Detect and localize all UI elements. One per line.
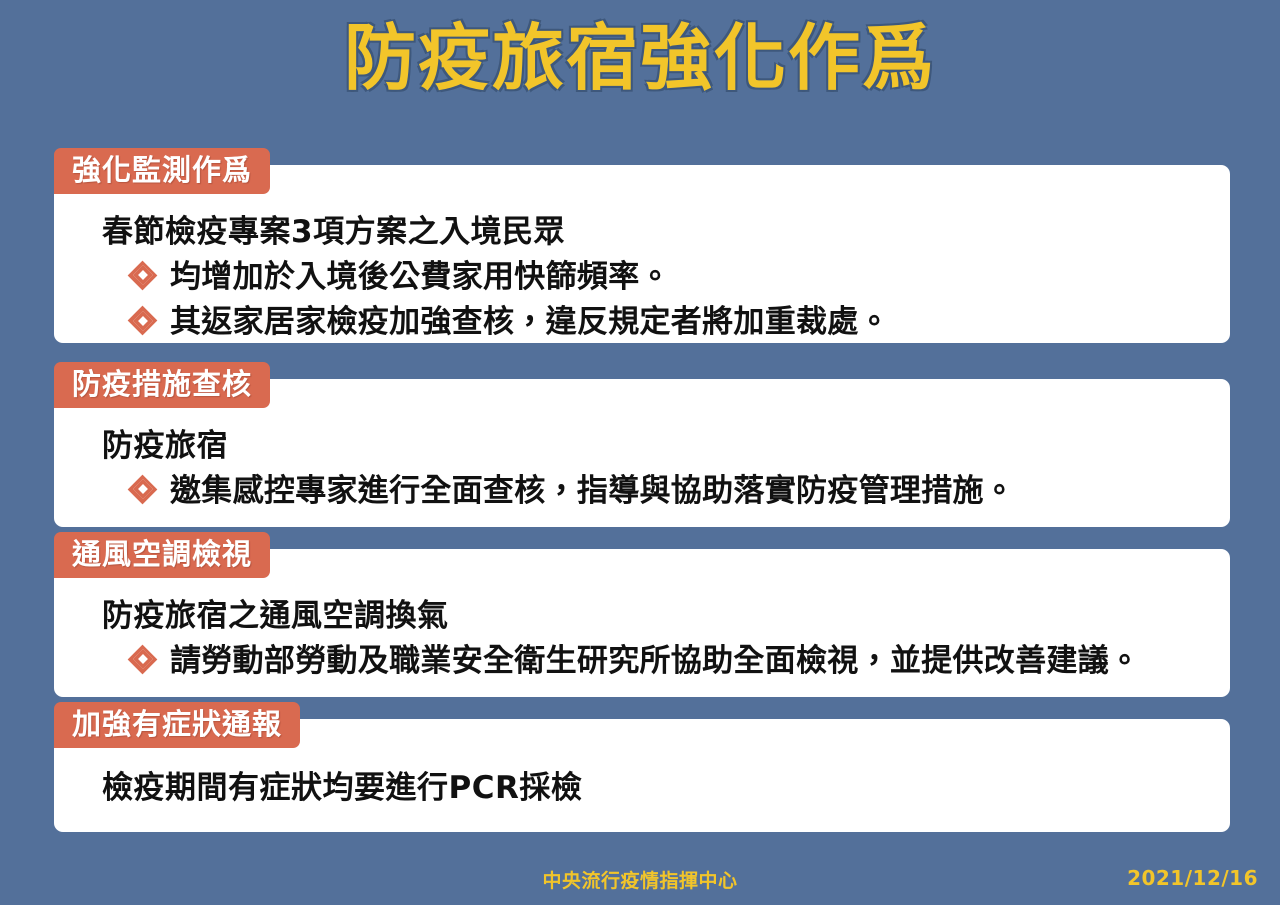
section-badge: 加強有症狀通報 bbox=[54, 702, 300, 748]
footer-date: 2021/12/16 bbox=[1127, 866, 1258, 890]
diamond-bullet-icon bbox=[130, 647, 160, 677]
list-item: 均增加於入境後公費家用快篩頻率。 bbox=[54, 257, 1230, 297]
section-lead: 防疫旅宿 bbox=[54, 427, 1230, 466]
list-item: 其返家居家檢疫加強查核，違反規定者將加重裁處。 bbox=[54, 302, 1230, 342]
slide-root: { "slide": { "title": "防疫旅宿強化作爲", "backg… bbox=[0, 0, 1280, 905]
section-badge: 通風空調檢視 bbox=[54, 532, 270, 578]
bullet-text: 均增加於入境後公費家用快篩頻率。 bbox=[170, 257, 671, 297]
section-badge: 強化監測作爲 bbox=[54, 148, 270, 194]
section-lead: 檢疫期間有症狀均要進行PCR採檢 bbox=[54, 769, 1230, 808]
section-lead: 防疫旅宿之通風空調換氣 bbox=[54, 597, 1230, 636]
diamond-bullet-icon bbox=[130, 477, 160, 507]
footer-organization: 中央流行疫情指揮中心 bbox=[0, 866, 1280, 893]
diamond-bullet-icon bbox=[130, 263, 160, 293]
bullet-text: 邀集感控專家進行全面查核，指導與協助落實防疫管理措施。 bbox=[170, 471, 1015, 511]
section-badge: 防疫措施查核 bbox=[54, 362, 270, 408]
section-lead: 春節檢疫專案3項方案之入境民眾 bbox=[54, 213, 1230, 252]
list-item: 請勞動部勞動及職業安全衛生研究所協助全面檢視，並提供改善建議。 bbox=[54, 641, 1230, 681]
list-item: 邀集感控專家進行全面查核，指導與協助落實防疫管理措施。 bbox=[54, 471, 1230, 511]
bullet-text: 其返家居家檢疫加強查核，違反規定者將加重裁處。 bbox=[170, 302, 890, 342]
footer: 中央流行疫情指揮中心 2021/12/16 bbox=[0, 866, 1280, 892]
diamond-bullet-icon bbox=[130, 308, 160, 338]
page-title: 防疫旅宿強化作爲 bbox=[0, 22, 1280, 94]
bullet-text: 請勞動部勞動及職業安全衛生研究所協助全面檢視，並提供改善建議。 bbox=[170, 641, 1140, 681]
